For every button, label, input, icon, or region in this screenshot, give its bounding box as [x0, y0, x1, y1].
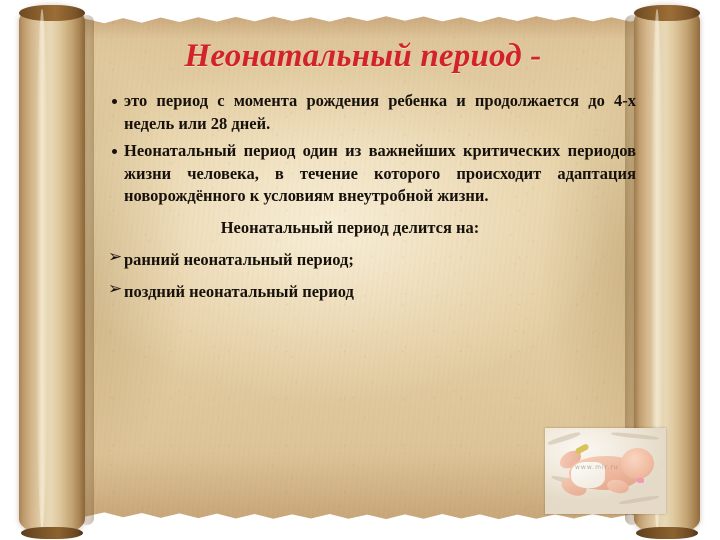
- list-item: Неонатальный период один из важнейших кр…: [90, 140, 636, 208]
- slide-canvas: Неонатальный период - это период с момен…: [0, 0, 720, 540]
- arrow-bullet-icon: ➢: [108, 278, 122, 301]
- arrow-item-text: ранний неонатальный период;: [124, 250, 354, 269]
- scroll-roll-left-highlight: [36, 9, 48, 529]
- newborn-baby-photo: www.mir.ru: [545, 428, 666, 514]
- arrow-bullet-icon: ➢: [108, 246, 122, 269]
- arrow-item-text: поздний неонатальный период: [124, 282, 354, 301]
- list-item: это период с момента рождения ребенка и …: [90, 90, 636, 135]
- bullet-text: Неонатальный период один из важнейших кр…: [124, 140, 636, 208]
- scroll-roll-right-cap: [634, 5, 700, 21]
- scroll-roll-left-cap: [19, 5, 85, 21]
- photo-watermark: www.mir.ru: [575, 464, 619, 471]
- scroll-roll-left: [19, 5, 85, 535]
- bullet-dot-icon: [112, 99, 117, 104]
- baby-hand: [637, 478, 644, 483]
- baby-head: [621, 448, 654, 479]
- scroll-roll-right-foot: [636, 527, 698, 539]
- bullet-text: это период с момента рождения ребенка и …: [124, 90, 636, 135]
- list-item: ➢ ранний неонатальный период;: [90, 248, 636, 271]
- scroll-roll-left-foot: [21, 527, 83, 539]
- bullet-list: это период с момента рождения ребенка и …: [90, 90, 636, 208]
- list-item: ➢ поздний неонатальный период: [90, 280, 636, 303]
- section-subheading: Неонатальный период делится на:: [90, 216, 636, 239]
- bullet-dot-icon: [112, 149, 117, 154]
- page-title: Неонатальный период -: [90, 36, 636, 76]
